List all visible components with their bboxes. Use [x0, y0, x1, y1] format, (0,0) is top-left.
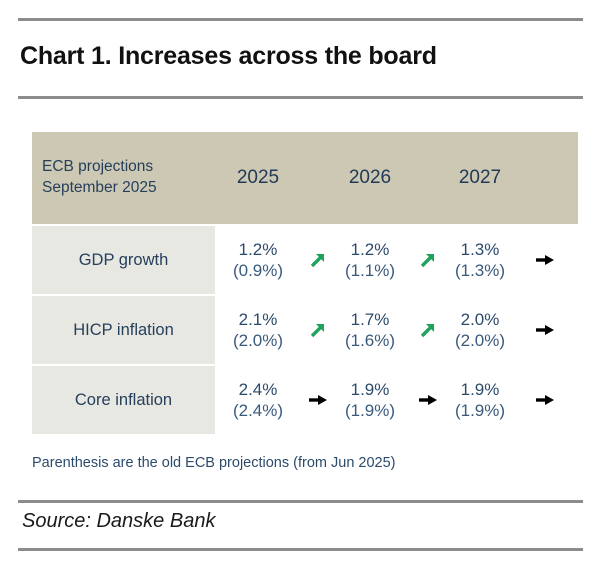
value-old: (1.6%)	[345, 330, 395, 351]
arrow-right-icon	[532, 387, 558, 413]
value-cell: 2.1% (2.0%)	[233, 309, 283, 352]
arrow-right-icon	[532, 247, 558, 273]
source-top-rule	[18, 500, 583, 503]
arrow-right-icon	[532, 317, 558, 343]
value-cell: 1.3% (1.3%)	[455, 239, 505, 282]
chart-figure: Chart 1. Increases across the board ECB …	[0, 0, 600, 569]
value-cell: 1.2% (1.1%)	[345, 239, 395, 282]
value-old: (2.0%)	[233, 330, 283, 351]
value-new: 1.2%	[239, 240, 278, 259]
value-cell: 1.7% (1.6%)	[345, 309, 395, 352]
table-row: GDP growth 1.2% (0.9%) 1.2% (1.1%)	[32, 226, 578, 294]
arrow-up-right-icon	[305, 317, 331, 343]
value-cell: 1.9% (1.9%)	[455, 379, 505, 422]
chart-title: Chart 1. Increases across the board	[20, 42, 437, 71]
value-cell: 1.2% (0.9%)	[233, 239, 283, 282]
source-text: Source: Danske Bank	[22, 510, 215, 533]
table-row: HICP inflation 2.1% (2.0%) 1.7% (1.6%)	[32, 296, 578, 364]
value-new: 1.9%	[461, 380, 500, 399]
title-underline-rule	[18, 96, 583, 99]
value-new: 2.1%	[239, 310, 278, 329]
corner-label-line-1: ECB projections	[42, 157, 157, 178]
row-label-text: GDP growth	[79, 251, 169, 270]
column-header-2027: 2027	[459, 167, 501, 189]
value-old: (2.0%)	[455, 330, 505, 351]
arrow-right-icon	[305, 387, 331, 413]
value-new: 1.7%	[351, 310, 390, 329]
table-footnote: Parenthesis are the old ECB projections …	[32, 455, 396, 471]
value-cell: 2.4% (2.4%)	[233, 379, 283, 422]
column-header-2026: 2026	[349, 167, 391, 189]
arrow-up-right-icon	[415, 247, 441, 273]
row-label-cell: HICP inflation	[32, 296, 215, 364]
value-old: (0.9%)	[233, 260, 283, 281]
value-new: 2.0%	[461, 310, 500, 329]
value-new: 1.2%	[351, 240, 390, 259]
value-cell: 1.9% (1.9%)	[345, 379, 395, 422]
corner-label-line-2: September 2025	[42, 178, 157, 199]
table-header-band: ECB projections September 2025 2025 2026…	[32, 132, 578, 224]
arrow-up-right-icon	[305, 247, 331, 273]
value-old: (1.9%)	[345, 400, 395, 421]
bottom-rule	[18, 548, 583, 551]
value-cell: 2.0% (2.0%)	[455, 309, 505, 352]
row-label-text: Core inflation	[75, 391, 172, 410]
row-label-text: HICP inflation	[73, 321, 174, 340]
value-old: (2.4%)	[233, 400, 283, 421]
value-old: (1.9%)	[455, 400, 505, 421]
value-new: 2.4%	[239, 380, 278, 399]
arrow-up-right-icon	[415, 317, 441, 343]
value-old: (1.1%)	[345, 260, 395, 281]
row-label-cell: Core inflation	[32, 366, 215, 434]
value-old: (1.3%)	[455, 260, 505, 281]
arrow-right-icon	[415, 387, 441, 413]
table-corner-label: ECB projections September 2025	[42, 157, 157, 199]
projections-table: ECB projections September 2025 2025 2026…	[32, 132, 578, 434]
row-label-cell: GDP growth	[32, 226, 215, 294]
column-header-2025: 2025	[237, 167, 279, 189]
top-rule	[18, 18, 583, 21]
table-row: Core inflation 2.4% (2.4%) 1.9% (1.9%)	[32, 366, 578, 434]
value-new: 1.3%	[461, 240, 500, 259]
value-new: 1.9%	[351, 380, 390, 399]
